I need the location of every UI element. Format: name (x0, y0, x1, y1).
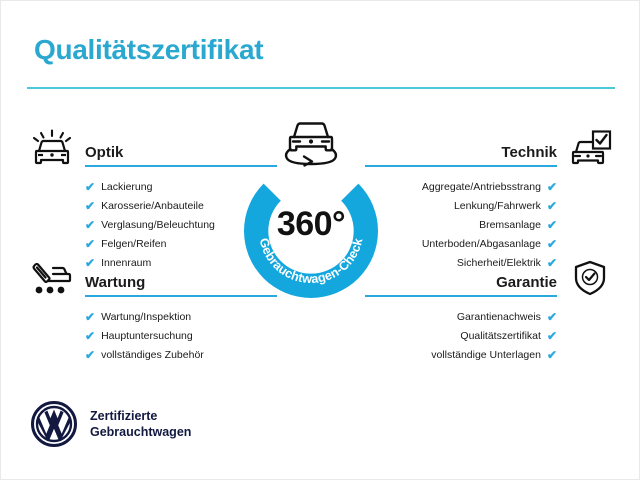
section-divider (365, 295, 557, 297)
list-item-label: Unterboden/Abgasanlage (422, 236, 541, 252)
list-item-label: Lenkung/Fahrwerk (454, 198, 541, 214)
list-item-label: Felgen/Reifen (101, 236, 166, 252)
list-item-label: Wartung/Inspektion (101, 309, 191, 325)
list-item: ✔Bremsanlage (365, 215, 557, 234)
page-title: Qualitätszertifikat (34, 34, 263, 66)
footer-line-2: Gebrauchtwagen (90, 424, 191, 440)
shield-check-icon (567, 259, 613, 297)
section-technik: Technik ✔Aggregate/Antriebsstrang ✔Lenku… (365, 129, 615, 272)
wrench-car-icon (29, 259, 75, 297)
list-item-label: Lackierung (101, 179, 152, 195)
check-icon: ✔ (547, 200, 557, 212)
list-item-label: Qualitätszertifikat (460, 328, 541, 344)
section-title: Technik (501, 144, 557, 161)
check-list-technik: ✔Aggregate/Antriebsstrang ✔Lenkung/Fahrw… (365, 171, 615, 272)
list-item: ✔vollständige Unterlagen (365, 345, 557, 364)
list-item-label: Bremsanlage (479, 217, 541, 233)
list-item: ✔Qualitätszertifikat (365, 326, 557, 345)
check-icon: ✔ (547, 349, 557, 361)
car-checkbox-icon (567, 129, 613, 167)
check-icon: ✔ (85, 219, 95, 231)
section-garantie: Garantie ✔Garantienachweis ✔Qualitätszer… (365, 259, 615, 364)
check-icon: ✔ (85, 349, 95, 361)
check-list-garantie: ✔Garantienachweis ✔Qualitätszertifikat ✔… (365, 301, 615, 364)
check-icon: ✔ (547, 330, 557, 342)
list-item: ✔Lenkung/Fahrwerk (365, 196, 557, 215)
check-icon: ✔ (547, 311, 557, 323)
list-item-label: Karosserie/Anbauteile (101, 198, 204, 214)
section-title: Garantie (496, 274, 557, 291)
list-item-label: Hauptuntersuchung (101, 328, 193, 344)
360-check-badge: Gebrauchtwagen-Check 360° (229, 149, 393, 313)
check-icon: ✔ (85, 238, 95, 250)
check-icon: ✔ (547, 238, 557, 250)
car-rotation-icon (276, 116, 346, 172)
list-item-label: vollständige Unterlagen (431, 347, 541, 363)
footer-line-1: Zertifizierte (90, 408, 191, 424)
list-item: ✔Garantienachweis (365, 307, 557, 326)
list-item-label: Aggregate/Antriebsstrang (422, 179, 541, 195)
list-item-label: Verglasung/Beleuchtung (101, 217, 215, 233)
check-icon: ✔ (85, 330, 95, 342)
list-item: ✔vollständiges Zubehör (85, 345, 277, 364)
title-divider (27, 87, 615, 89)
check-icon: ✔ (547, 181, 557, 193)
badge-center-label: 360° (229, 205, 393, 244)
check-icon: ✔ (547, 219, 557, 231)
footer-branding: Zertifizierte Gebrauchtwagen (31, 401, 191, 447)
volkswagen-logo (31, 401, 77, 447)
car-shine-icon (29, 129, 75, 167)
list-item: ✔Hauptuntersuchung (85, 326, 277, 345)
list-item: ✔Aggregate/Antriebsstrang (365, 177, 557, 196)
list-item-label: vollständiges Zubehör (101, 347, 204, 363)
section-title: Optik (85, 144, 123, 161)
section-header: Technik (365, 129, 615, 171)
section-title: Wartung (85, 274, 145, 291)
check-icon: ✔ (85, 181, 95, 193)
check-icon: ✔ (85, 311, 95, 323)
list-item-label: Garantienachweis (457, 309, 541, 325)
list-item: ✔Unterboden/Abgasanlage (365, 234, 557, 253)
certificate-page: Qualitätszertifikat (0, 0, 640, 480)
check-icon: ✔ (85, 200, 95, 212)
section-divider (365, 165, 557, 167)
section-header: Garantie (365, 259, 615, 301)
footer-text: Zertifizierte Gebrauchtwagen (90, 408, 191, 440)
